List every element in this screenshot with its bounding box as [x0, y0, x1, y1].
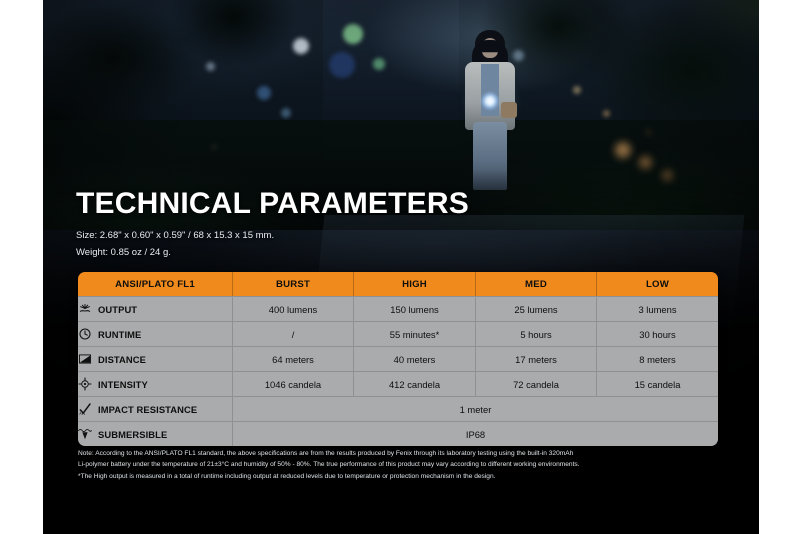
cell-distance-burst: 64 meters: [233, 346, 354, 371]
cell-intensity-high: 412 candela: [354, 371, 476, 396]
column-header-med: MED: [476, 272, 597, 296]
column-header-standard: ANSI/PLATO FL1: [78, 272, 233, 296]
cell-impact-resistance-value: 1 meter: [233, 396, 718, 421]
cell-distance-med: 17 meters: [476, 346, 597, 371]
row-label-text: DISTANCE: [98, 354, 146, 365]
column-header-high: HIGH: [354, 272, 476, 296]
cell-distance-high: 40 meters: [354, 346, 476, 371]
table-row: DISTANCE 64 meters 40 meters 17 meters 8…: [78, 346, 718, 371]
cell-runtime-burst: /: [233, 321, 354, 346]
column-header-burst: BURST: [233, 272, 354, 296]
row-label-text: RUNTIME: [98, 329, 141, 340]
row-label-runtime: RUNTIME: [78, 321, 233, 346]
row-label-output: OUTPUT: [78, 296, 233, 321]
page-title: TECHNICAL PARAMETERS: [76, 188, 469, 220]
cell-intensity-burst: 1046 candela: [233, 371, 354, 396]
sun-burst-icon: [78, 302, 92, 316]
cell-runtime-low: 30 hours: [597, 321, 718, 346]
row-label-text: OUTPUT: [98, 304, 137, 315]
table-row: OUTPUT 400 lumens 150 lumens 25 lumens 3…: [78, 296, 718, 321]
size-spec-line: Size: 2.68" x 0.60" x 0.59" / 68 x 15.3 …: [76, 229, 469, 244]
clock-icon: [78, 327, 92, 341]
table-header: ANSI/PLATO FL1 BURST HIGH MED LOW: [78, 272, 718, 296]
cell-intensity-low: 15 candela: [597, 371, 718, 396]
cell-submersible-value: IP68: [233, 421, 718, 446]
table-row: INTENSITY 1046 candela 412 candela 72 ca…: [78, 371, 718, 396]
technical-parameters-table: ANSI/PLATO FL1 BURST HIGH MED LOW: [78, 272, 718, 446]
table-row: SUBMERSIBLE IP68: [78, 421, 718, 446]
table-row: RUNTIME / 55 minutes* 5 hours 30 hours: [78, 321, 718, 346]
table-body: OUTPUT 400 lumens 150 lumens 25 lumens 3…: [78, 296, 718, 446]
cell-output-med: 25 lumens: [476, 296, 597, 321]
row-label-text: IMPACT RESISTANCE: [98, 404, 197, 415]
row-label-submersible: SUBMERSIBLE: [78, 421, 233, 446]
table-header-row: ANSI/PLATO FL1 BURST HIGH MED LOW: [78, 272, 718, 296]
footnote-line-2: Li-polymer battery under the temperature…: [78, 459, 723, 470]
row-label-text: INTENSITY: [98, 379, 148, 390]
column-header-low: LOW: [597, 272, 718, 296]
cell-intensity-med: 72 candela: [476, 371, 597, 396]
weight-spec-line: Weight: 0.85 oz / 24 g.: [76, 246, 469, 261]
footnote-line-1: Note: According to the ANSI/PLATO FL1 st…: [78, 448, 723, 459]
cell-output-low: 3 lumens: [597, 296, 718, 321]
submersible-icon: [78, 427, 92, 441]
cell-output-high: 150 lumens: [354, 296, 476, 321]
cell-runtime-high: 55 minutes*: [354, 321, 476, 346]
row-label-distance: DISTANCE: [78, 346, 233, 371]
row-label-intensity: INTENSITY: [78, 371, 233, 396]
headline-block: TECHNICAL PARAMETERS Size: 2.68" x 0.60"…: [76, 188, 469, 260]
table-row: IMPACT RESISTANCE 1 meter: [78, 396, 718, 421]
footnote-block: Note: According to the ANSI/PLATO FL1 st…: [78, 448, 723, 482]
row-label-text: SUBMERSIBLE: [98, 429, 167, 440]
impact-resistance-icon: [78, 402, 92, 416]
footnote-line-3: *The High output is measured in a total …: [78, 471, 723, 482]
cell-distance-low: 8 meters: [597, 346, 718, 371]
row-label-impact-resistance: IMPACT RESISTANCE: [78, 396, 233, 421]
beam-distance-icon: [78, 352, 92, 366]
cell-output-burst: 400 lumens: [233, 296, 354, 321]
crosshair-intensity-icon: [78, 377, 92, 391]
cell-runtime-med: 5 hours: [476, 321, 597, 346]
page-root: TECHNICAL PARAMETERS Size: 2.68" x 0.60"…: [0, 0, 800, 534]
